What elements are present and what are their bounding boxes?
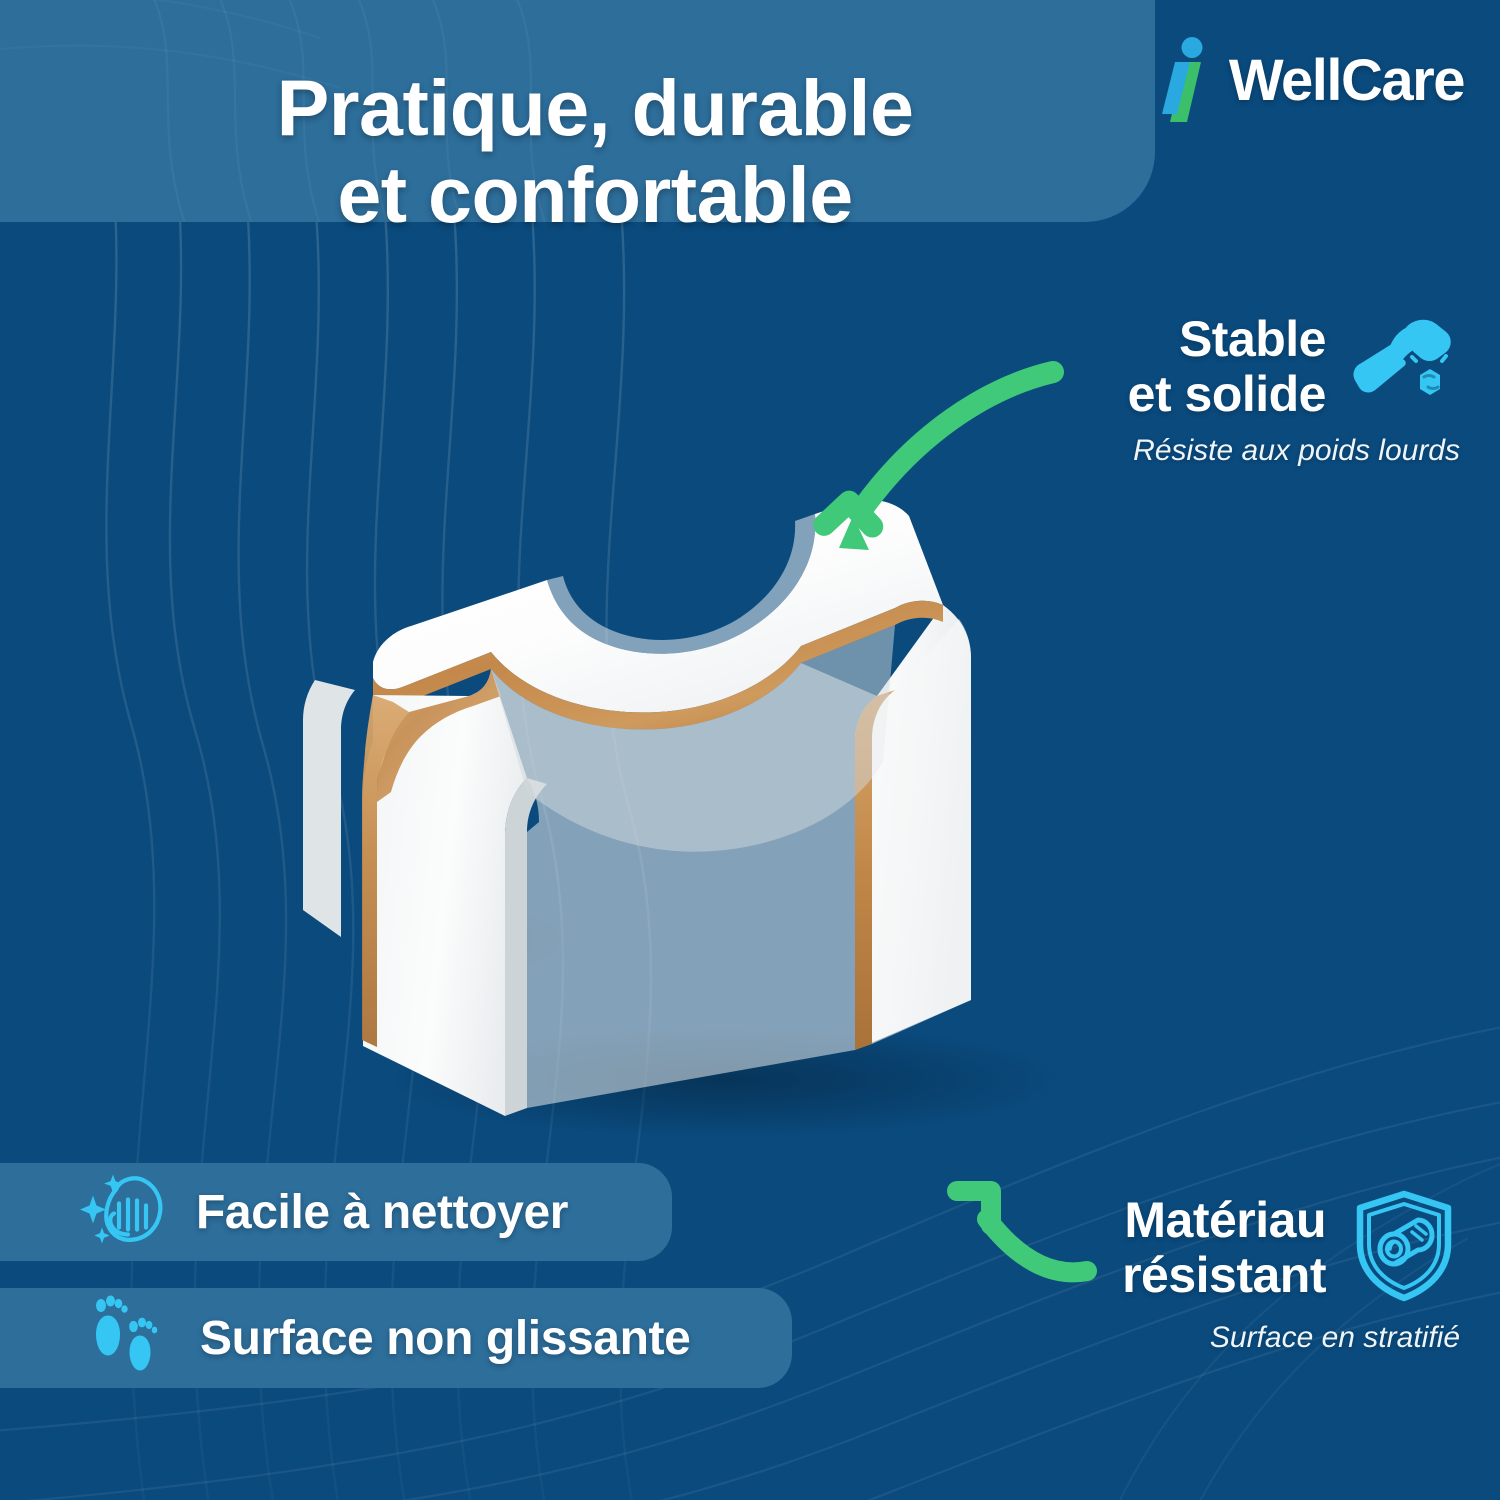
wellcare-i-mark-icon bbox=[1157, 34, 1215, 126]
cleaning-hand-icon bbox=[76, 1170, 172, 1255]
feature-pill-grip-label: Surface non glissante bbox=[200, 1311, 690, 1366]
feature-pill-grip: Surface non glissante bbox=[0, 1288, 792, 1388]
callout-stable-title: Stable et solide bbox=[1096, 312, 1326, 422]
callout-stable-title-line2: et solide bbox=[1096, 367, 1326, 422]
callout-material: Matériau résistant bbox=[1000, 1186, 1460, 1355]
callout-material-title-line2: résistant bbox=[1086, 1248, 1326, 1303]
product-image-toilet-stool bbox=[255, 440, 1155, 1140]
callout-stable-title-line1: Stable bbox=[1096, 312, 1326, 367]
hammer-icon bbox=[1348, 315, 1460, 420]
callout-material-title: Matériau résistant bbox=[1086, 1193, 1326, 1303]
brand-name: WellCare bbox=[1229, 47, 1464, 114]
feature-pill-clean: Facile à nettoyer bbox=[0, 1163, 672, 1261]
callout-material-title-line1: Matériau bbox=[1086, 1193, 1326, 1248]
headline-line-2: et confortable bbox=[337, 152, 852, 237]
callout-material-subtitle: Surface en stratifié bbox=[1000, 1321, 1460, 1355]
brand-logo: WellCare bbox=[1157, 34, 1464, 126]
shield-wood-icon bbox=[1348, 1186, 1460, 1309]
feature-pill-clean-label: Facile à nettoyer bbox=[196, 1185, 568, 1240]
page-title: Pratique, durable et confortable bbox=[40, 40, 1150, 262]
headline-line-1: Pratique, durable bbox=[277, 65, 914, 150]
callout-stable-subtitle: Résiste aux poids lourds bbox=[1060, 434, 1460, 468]
callout-stable: Stable et solide bbox=[1060, 312, 1460, 468]
promo-image: Pratique, durable et confortable WellCar… bbox=[0, 0, 1500, 1500]
footprints-icon bbox=[82, 1294, 170, 1383]
